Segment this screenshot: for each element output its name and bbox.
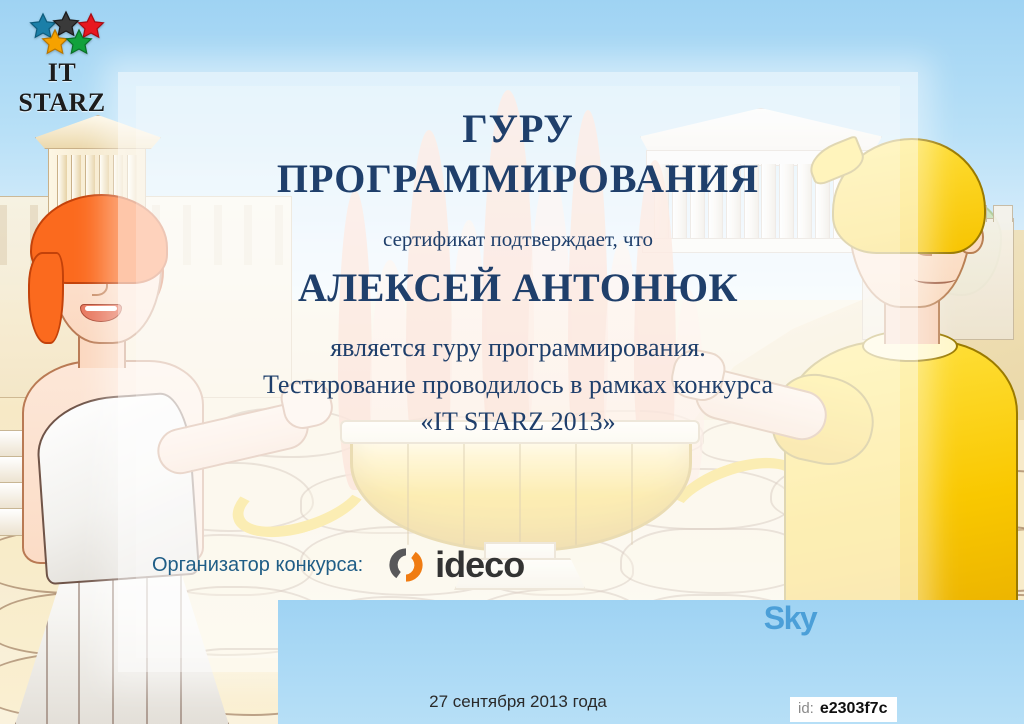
man-mouth <box>914 274 956 284</box>
body-line-1: является гуру программирования. <box>118 330 918 367</box>
certificate-id-badge: id: e2303f7c <box>790 697 897 722</box>
recipient-name: АЛЕКСЕЙ АНТОНЮК <box>118 264 918 311</box>
ideco-logo[interactable]: ideco <box>385 544 524 586</box>
certificate-body: является гуру программирования. Тестиров… <box>118 330 918 441</box>
logo-stars <box>10 8 114 58</box>
partner-skydns-logo[interactable]: SkyDNS <box>820 604 883 641</box>
id-label: id: <box>798 700 814 717</box>
organizer-label: Организатор конкурса: <box>152 554 363 577</box>
ideco-swirl-icon <box>385 544 427 586</box>
logo-wordmark: IT STARZ <box>10 58 114 118</box>
certificate-title: ГУРУ ПРОГРАММИРОВАНИЯ <box>118 104 918 205</box>
certificate-canvas: IT STARZ ГУРУ ПРОГРАММИРОВАНИЯ сертифика… <box>0 0 1024 724</box>
certificate-subtitle: сертификат подтверждает, что <box>118 227 918 252</box>
title-line-1: ГУРУ <box>462 106 574 151</box>
partners-row: Партнеры: LINUX Главное в мире Linux FOR… <box>278 600 928 644</box>
body-line-2: Тестирование проводилось в рамках конкур… <box>118 367 918 404</box>
body-line-3: «IT STARZ 2013» <box>118 404 918 441</box>
title-line-2: ПРОГРАММИРОВАНИЯ <box>118 154 918 204</box>
certificate-content: ГУРУ ПРОГРАММИРОВАНИЯ сертификат подтвер… <box>118 72 918 672</box>
ideco-wordmark: ideco <box>435 544 524 586</box>
it-starz-logo: IT STARZ <box>10 8 114 90</box>
woman-hair-side <box>28 252 64 344</box>
id-value: e2303f7c <box>820 700 888 718</box>
organizer-row: Организатор конкурса: ideco <box>152 544 712 586</box>
